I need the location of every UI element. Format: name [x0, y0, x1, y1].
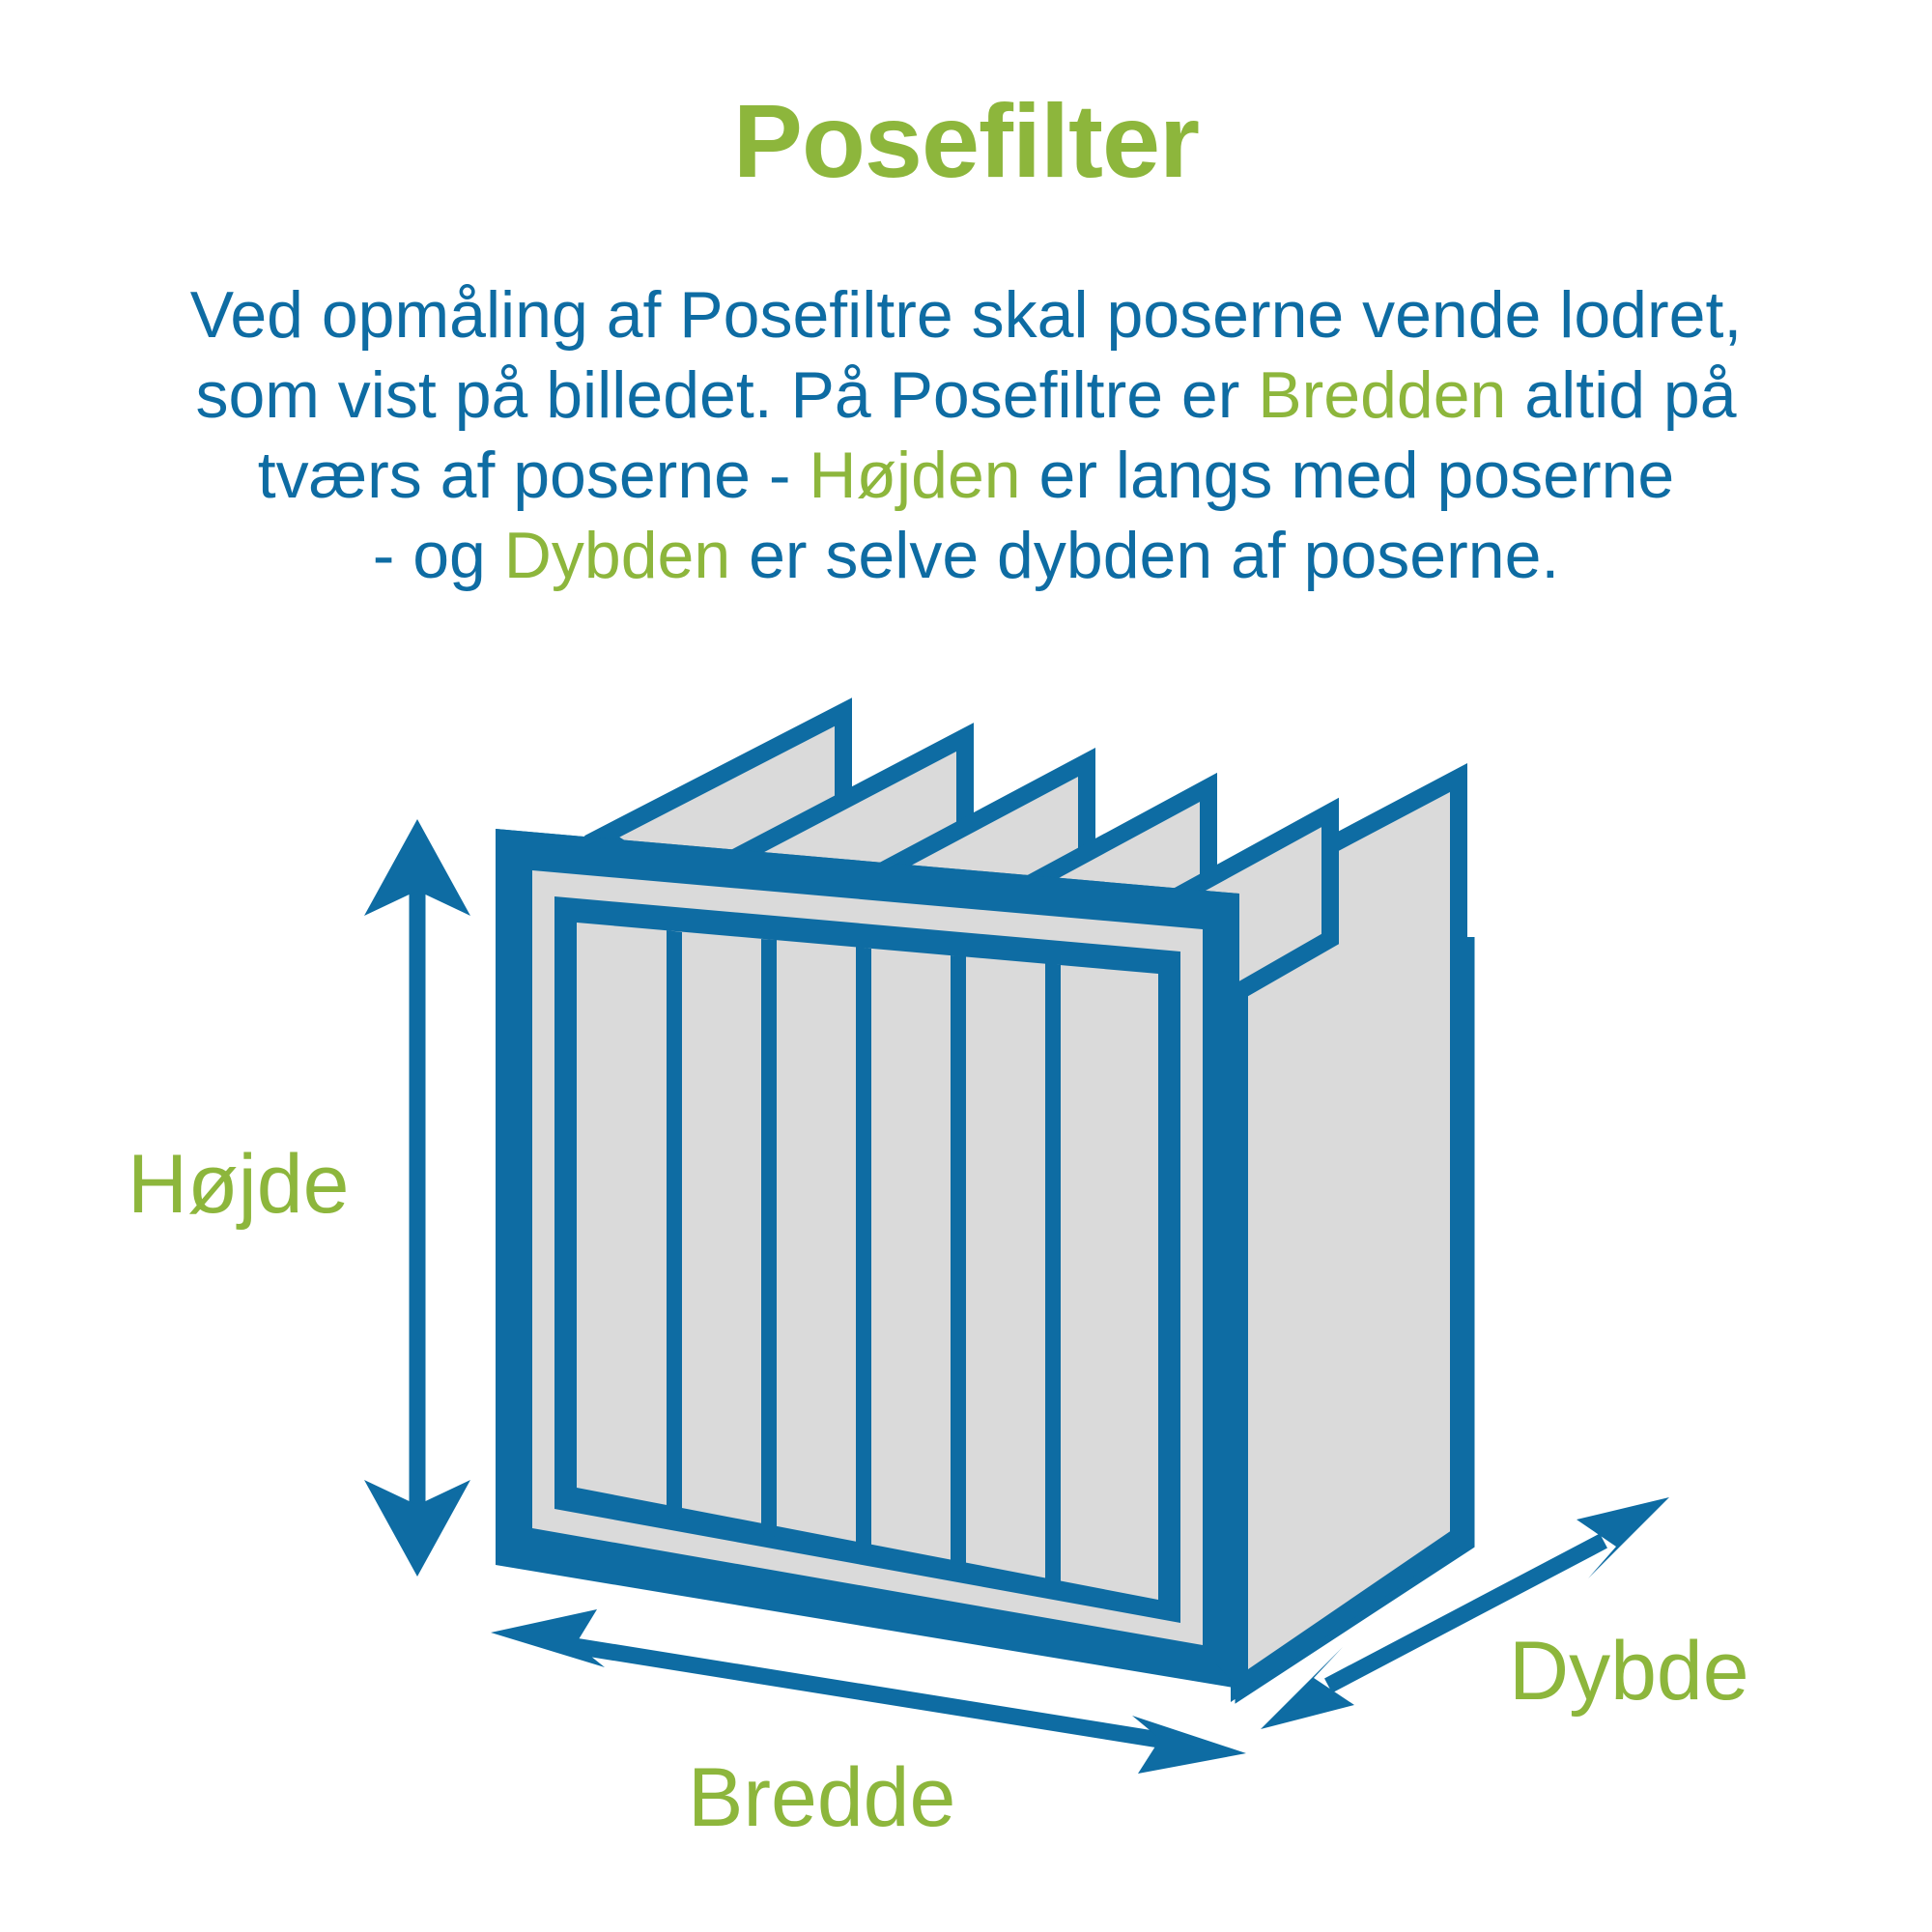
pocket-divider-2 [761, 939, 777, 1537]
pocket-divider-5 [1045, 963, 1061, 1592]
dimension-label-depth: Dybde [1509, 1630, 1749, 1713]
dimension-label-height: Højde [128, 1143, 349, 1226]
depth-arrow-head-upper-right [1577, 1497, 1669, 1578]
frame-right-post [1215, 971, 1239, 1689]
dimension-label-width: Bredde [688, 1756, 955, 1839]
pocket-divider-1 [667, 930, 682, 1519]
pocket-divider-3 [856, 947, 871, 1555]
poster-canvas: Posefilter Ved opmåling af Posefiltre sk… [0, 0, 1932, 1932]
front-frame-group [496, 829, 1239, 1689]
width-arrow-head-left [491, 1609, 605, 1667]
pocket-divider-4 [951, 955, 966, 1574]
